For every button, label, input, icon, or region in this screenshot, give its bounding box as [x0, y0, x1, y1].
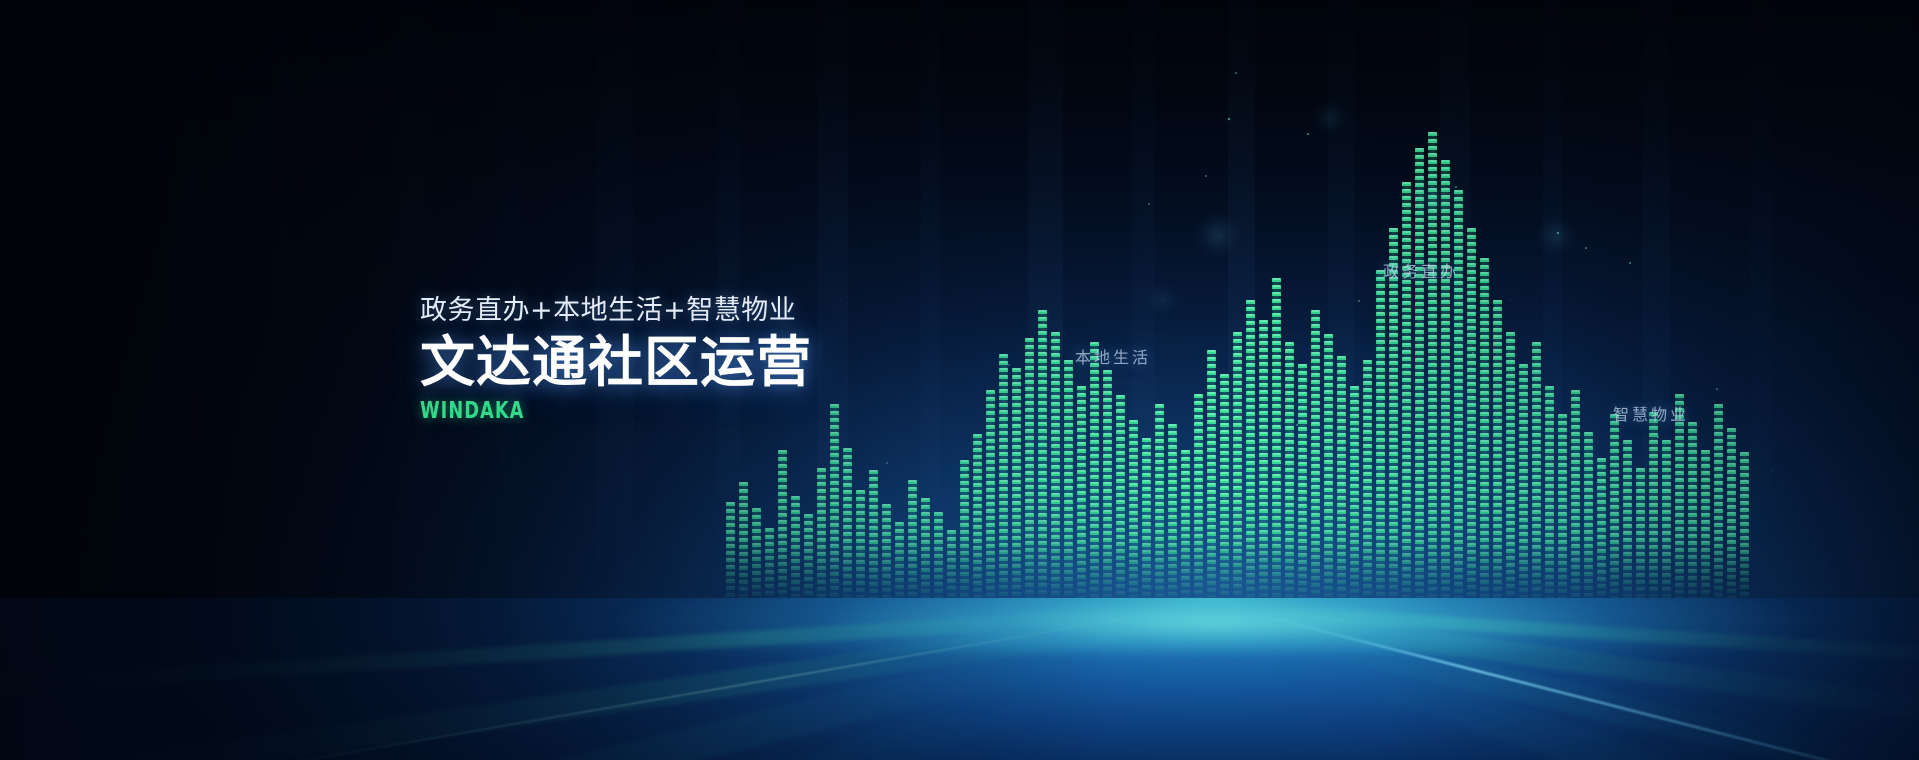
banner-stage: 政务直办本地生活智慧物业 政务直办+本地生活+智慧物业 文达通社区运营 WIND…: [0, 0, 1919, 760]
global-vignette: [0, 0, 1919, 760]
